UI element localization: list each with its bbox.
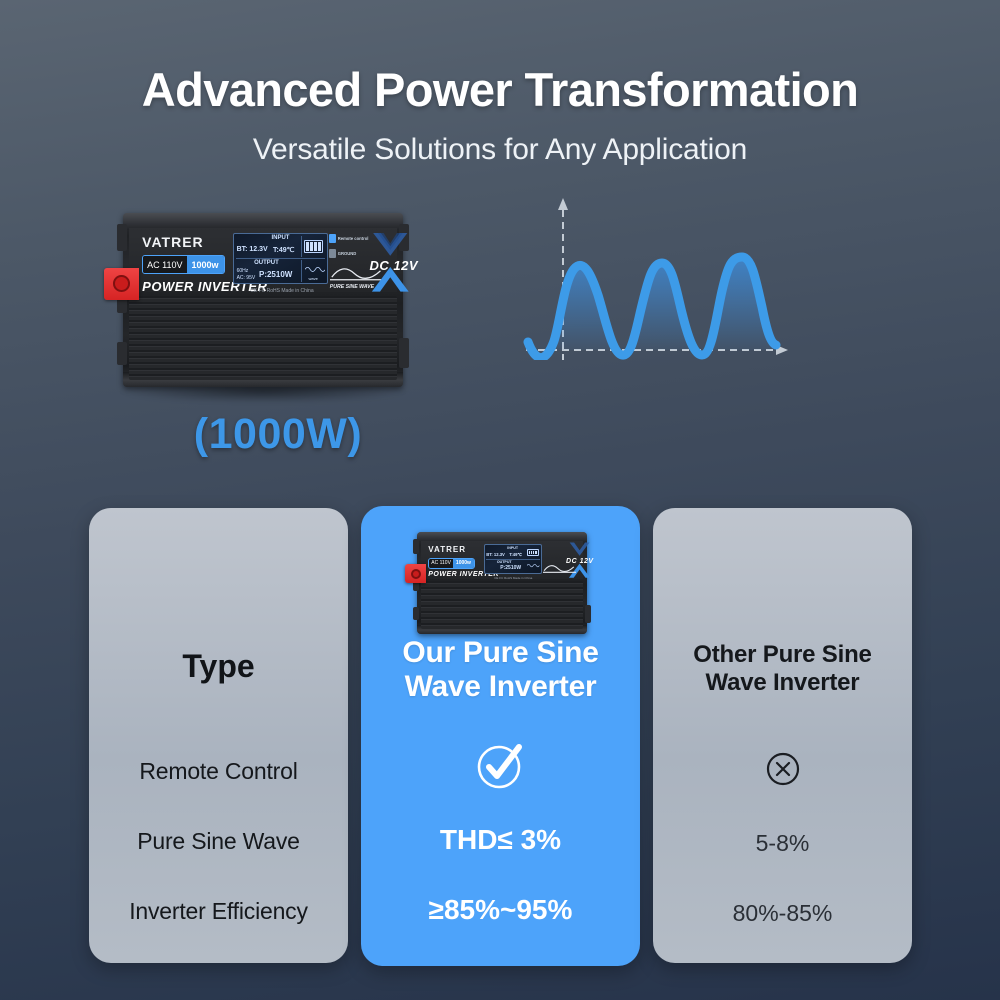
lcd-output-power: P:2510W — [259, 270, 292, 279]
row-label-pure-sine-wave: Pure Sine Wave — [89, 828, 348, 855]
lcd-wave-tag: wave — [308, 276, 317, 281]
lcd-input-temperature: T:49℃ — [273, 246, 294, 254]
value-ours-thd: THD≤ 3% — [361, 824, 640, 856]
mount-ear-left-bottom — [117, 342, 127, 365]
comparison-column-ours: VATRER AC 110V 1000w POWER INVERTER INPU… — [361, 506, 640, 966]
brand-logo: VATRER — [142, 234, 203, 250]
value-other-thd: 5-8% — [653, 830, 912, 857]
certification-marks: CE FC RoHS Made in China — [250, 288, 313, 294]
mini-mount-ear-left-bottom — [413, 607, 419, 620]
wave-axis-y-arrow — [558, 198, 568, 210]
remote-control-icon — [329, 234, 336, 243]
mount-ear-right-bottom — [399, 338, 409, 368]
mini-badge-ac-label: AC 110V — [429, 559, 453, 568]
comparison-column-type: Type Remote Control Pure Sine Wave Inver… — [89, 508, 348, 963]
lcd-divider-vertical — [301, 236, 302, 258]
column-title-other-line1: Other Pure Sine — [661, 641, 904, 669]
mount-ear-left-top — [117, 224, 127, 251]
mini-power-switch — [405, 564, 426, 583]
mini-mount-ear-right-bottom — [585, 605, 591, 623]
column-title-ours-line1: Our Pure Sine — [369, 636, 632, 670]
vatrer-a-logo-icon — [368, 266, 413, 293]
mini-battery-level-icon — [527, 549, 539, 556]
lcd-divider-vertical-2 — [301, 260, 302, 282]
comparison-column-other: Other Pure Sine Wave Inverter 5-8% 80%-8… — [653, 508, 912, 963]
mini-sine-wave-symbol-icon — [543, 563, 576, 574]
mini-brand-logo: VATRER — [428, 545, 466, 554]
mini-lcd-display: INPUT BT: 12.3V T:49℃ OUTPUT P:2510W — [484, 544, 542, 574]
comparison-table: Type Remote Control Pure Sine Wave Inver… — [0, 508, 1000, 966]
vatrer-v-logo-icon — [368, 232, 413, 257]
row-label-remote-control: Remote Control — [89, 758, 348, 785]
column-title-other: Other Pure Sine Wave Inverter — [661, 641, 904, 698]
power-rating-badge: AC 110V 1000w — [142, 255, 224, 274]
lcd-input-voltage: BT: 12.3V — [237, 246, 268, 253]
mini-power-rating-badge: AC 110V 1000w — [428, 558, 475, 569]
power-switch[interactable] — [104, 268, 139, 300]
mini-certification-marks: CE FC RoHS Made in China — [494, 576, 532, 580]
page-subtitle: Versatile Solutions for Any Application — [0, 133, 1000, 167]
header-block: Advanced Power Transformation Versatile … — [0, 62, 1000, 167]
lcd-wave-icon — [305, 263, 326, 276]
badge-watt-label: 1000w — [187, 256, 224, 273]
value-other-efficiency: 80%-85% — [653, 900, 912, 927]
mini-lcd-output-label: OUTPUT — [485, 560, 524, 564]
mini-lcd-output-power: P:2510W — [500, 565, 521, 571]
column-title-ours: Our Pure Sine Wave Inverter — [369, 636, 632, 703]
mini-power-switch-button-icon — [411, 569, 421, 579]
column-title-other-line2: Wave Inverter — [661, 669, 904, 697]
mini-inverter-heatsink-fins — [421, 581, 584, 629]
infographic-root: Advanced Power Transformation Versatile … — [0, 0, 1000, 1000]
mini-vatrer-v-logo-icon — [566, 542, 593, 556]
remote-control-label: Remote control — [338, 236, 369, 241]
mini-mount-ear-left-top — [413, 539, 419, 554]
mini-lcd-wave-icon — [527, 562, 539, 569]
battery-level-icon — [304, 240, 324, 253]
card-product-image: VATRER AC 110V 1000w POWER INVERTER INPU… — [405, 528, 599, 638]
hero-product-image: VATRER AC 110V 1000w POWER INVERTER INPU… — [104, 205, 422, 395]
page-title: Advanced Power Transformation — [0, 62, 1000, 117]
row-label-inverter-efficiency: Inverter Efficiency — [89, 898, 348, 925]
lcd-output-frequency: 60Hz — [237, 268, 249, 274]
inverter-heatsink-fins — [129, 296, 396, 380]
value-ours-efficiency: ≥85%~95% — [361, 894, 640, 926]
power-switch-button-icon — [113, 275, 130, 292]
mini-lcd-input-voltage: BT: 12.3V — [486, 552, 505, 557]
badge-ac-label: AC 110V — [143, 256, 186, 273]
column-title-ours-line2: Wave Inverter — [369, 670, 632, 704]
lcd-output-ac: AC: 95V — [237, 275, 256, 281]
sine-wave-graph — [488, 185, 808, 360]
lcd-display: INPUT BT: 12.3V T:49℃ OUTPUT 60Hz AC: 95… — [233, 233, 328, 284]
mini-lcd-input-temperature: T:49℃ — [509, 552, 522, 557]
x-circle-icon — [765, 751, 801, 787]
ground-icon — [329, 249, 336, 258]
lcd-output-label: OUTPUT — [234, 260, 299, 266]
mini-badge-watt-label: 1000w — [453, 559, 474, 568]
column-title-type: Type — [89, 648, 348, 685]
ground-label: GROUND — [338, 251, 357, 256]
wattage-caption: (1000W) — [178, 410, 378, 459]
check-circle-icon — [474, 738, 528, 792]
